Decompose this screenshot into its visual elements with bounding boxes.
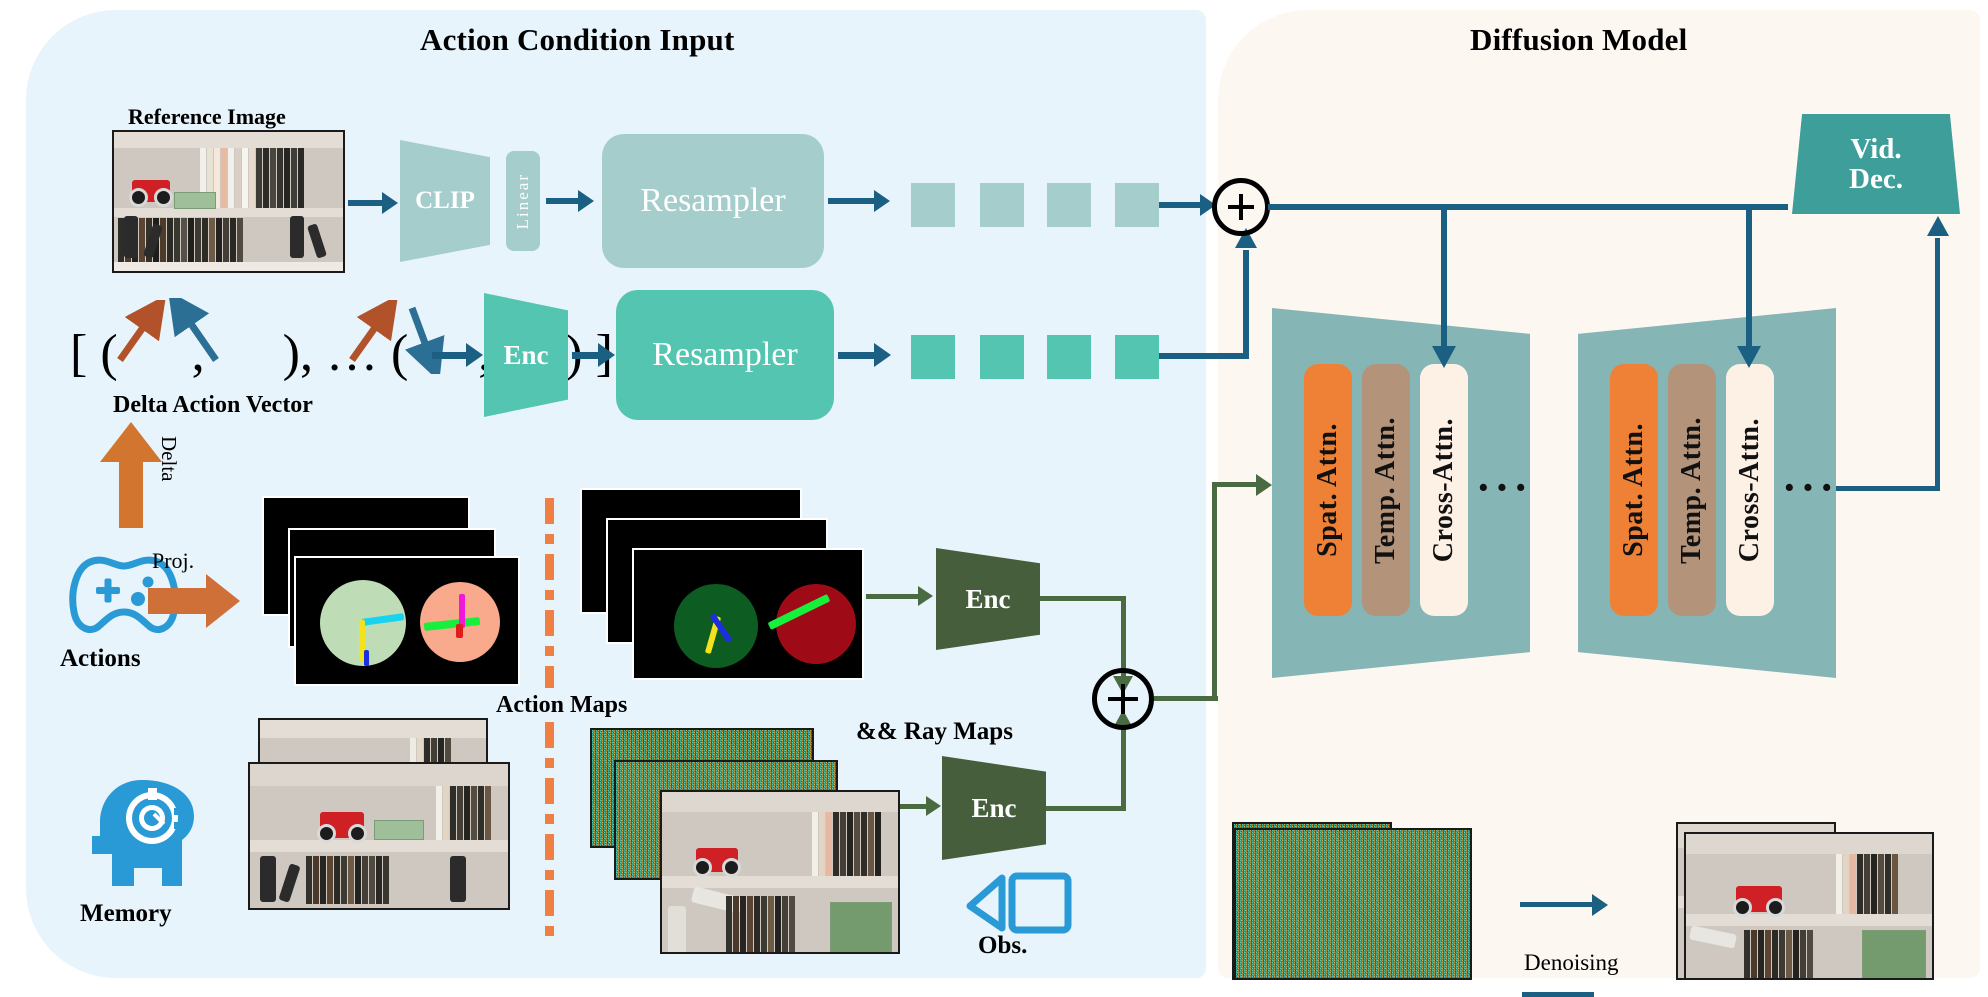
panel-title-diffusion-model: Diffusion Model (1470, 22, 1687, 58)
image-token-3 (1047, 183, 1091, 227)
unet1-ellipsis: ··· (1476, 462, 1532, 513)
ray-disc-right (776, 584, 856, 664)
memory-frame-front (248, 762, 510, 910)
image-token-2 (980, 183, 1024, 227)
arrow-obs-enc-elbow-h (1046, 806, 1126, 811)
arrow-sum-to-unet-v (1212, 482, 1217, 700)
ray-maps-label: && Ray Maps (856, 718, 1013, 746)
delta-action-vector-label: Delta Action Vector (113, 392, 313, 419)
linear-label: Linear (513, 173, 533, 229)
memory-label: Memory (80, 900, 172, 928)
denoising-label: Denoising (1524, 950, 1619, 976)
unet2-temporal-attn-label: Temp. Attn. (1676, 417, 1708, 564)
arrowhead-cond-to-unet1-cross-attn (1432, 346, 1456, 368)
arrowhead-cond-to-unet2-cross-attn (1737, 346, 1761, 368)
unet1-temporal-attn-label: Temp. Attn. (1370, 417, 1402, 564)
action-token-2 (980, 335, 1024, 379)
arrow-unet2-to-viddec-v (1935, 238, 1940, 490)
arrow-sum-to-unet-h1 (1154, 696, 1218, 701)
arrow-sum-to-unet-h2 (1212, 482, 1260, 487)
proj-arrow (148, 572, 240, 630)
unet-block-2: Spat. Attn. Temp. Attn. Cross-Attn. ··· (1578, 308, 1836, 678)
arrowhead-resampler-to-tokens-top (874, 190, 890, 212)
sum-node-latent (1092, 668, 1154, 730)
arrow-raymaps-to-enc (866, 594, 922, 599)
arrowhead-raymaps-to-enc (918, 586, 933, 606)
arrow-enc-to-resampler (572, 352, 600, 359)
cond-bus-drop-unet2 (1746, 204, 1752, 350)
video-decoder-block: Vid. Dec. (1792, 114, 1960, 214)
separator-dashed-upper (545, 498, 554, 688)
reference-image-label: Reference Image (128, 104, 286, 130)
cond-bus-horizontal (1268, 204, 1788, 210)
obs-label: Obs. (978, 932, 1027, 960)
actions-label: Actions (60, 645, 141, 673)
resampler-action-label: Resampler (652, 336, 797, 374)
arrowhead-unet2-to-viddec (1927, 216, 1949, 236)
resampler-image-label: Resampler (640, 182, 785, 220)
action-stick-right-magenta (459, 594, 465, 628)
arrow-ray-enc-elbow-h (1040, 596, 1126, 601)
arrow-action-tokens-elbow-v (1243, 250, 1249, 359)
ray-encoder-block: Enc (936, 548, 1040, 650)
resampler-action-block: Resampler (616, 290, 834, 420)
resampler-image-block: Resampler (602, 134, 824, 268)
arrow-unet2-to-viddec-h (1836, 486, 1940, 491)
arrow-resampler-to-tokens-bottom (838, 352, 876, 359)
separator-dashed-lower (545, 722, 554, 952)
proj-label: Proj. (152, 548, 194, 574)
linear-projection-block: Linear (506, 151, 540, 251)
diagram-canvas: Action Condition Input Diffusion Model R… (0, 0, 1988, 980)
arrow-linear-to-resampler (546, 198, 580, 204)
action-encoder-block: Enc (484, 293, 568, 417)
image-token-4 (1115, 183, 1159, 227)
arrow-denoising-shaft (1522, 992, 1594, 997)
unet2-ellipsis: ··· (1782, 462, 1838, 513)
arrow-obs-enc-elbow-v (1121, 728, 1126, 808)
unet1-pill-cross-attn[interactable]: Cross-Attn. (1420, 364, 1468, 616)
arrowhead-enc-to-resampler (598, 343, 615, 367)
unet1-pill-temporal-attn[interactable]: Temp. Attn. (1362, 364, 1410, 616)
unet2-pill-cross-attn[interactable]: Cross-Attn. (1726, 364, 1774, 616)
vid-dec-label-line1: Vid. (1850, 134, 1901, 164)
unet1-cross-attn-label: Cross-Attn. (1428, 418, 1460, 562)
vector-arrow-down-1 (398, 300, 456, 374)
arrow-refimage-to-clip (348, 200, 384, 206)
vector-arrow-down-right-1 (168, 298, 230, 370)
delta-arrow-label: Delta (156, 436, 181, 481)
action-map-frame-front (294, 556, 520, 686)
denoise-output-frame-front (1684, 832, 1934, 980)
cond-bus-drop-unet1 (1441, 204, 1447, 350)
obs-encoder-block: Enc (942, 756, 1046, 860)
arrow-tokens-to-sum-top (1159, 202, 1203, 208)
camera-icon (960, 872, 1076, 934)
vector-arrow-up-right-1 (110, 300, 170, 368)
image-token-1 (911, 183, 955, 227)
arrow-action-tokens-elbow-h (1159, 353, 1249, 359)
reference-image-thumbnail (112, 130, 345, 273)
unet2-pill-temporal-attn[interactable]: Temp. Attn. (1668, 364, 1716, 616)
unet2-pill-spatial-attn[interactable]: Spat. Attn. (1610, 364, 1658, 616)
arrow-resampler-to-tokens-top (828, 198, 876, 204)
obs-enc-label: Enc (971, 793, 1016, 824)
action-maps-label: Action Maps (496, 692, 627, 719)
action-token-3 (1047, 335, 1091, 379)
unet2-cross-attn-label: Cross-Attn. (1734, 418, 1766, 562)
arrowhead-refimage-to-clip (382, 192, 398, 214)
arrowhead-resampler-to-tokens-bottom (874, 343, 891, 367)
panel-title-action-condition-input: Action Condition Input (420, 22, 735, 58)
arrowhead-sum-to-unet (1256, 474, 1272, 496)
clip-label: CLIP (415, 187, 475, 215)
arrow-expr-to-enc (432, 352, 468, 359)
vid-dec-label-line2: Dec. (1849, 164, 1903, 194)
denoise-input-frame-front (1234, 828, 1472, 980)
action-stick-right-red (456, 624, 463, 638)
brain-head-icon (90, 778, 198, 890)
sum-node-conditions (1212, 178, 1270, 236)
ray-enc-label: Enc (965, 584, 1010, 615)
arrow-ray-enc-elbow-v (1121, 596, 1126, 678)
ray-map-frame-front (632, 548, 864, 680)
action-stick-left-blue (364, 650, 369, 666)
unet1-spatial-attn-label: Spat. Attn. (1312, 423, 1344, 557)
obs-frame-clean-front (660, 790, 900, 954)
unet1-pill-spatial-attn[interactable]: Spat. Attn. (1304, 364, 1352, 616)
vector-arrow-up-right-2 (342, 300, 402, 368)
clip-encoder-block: CLIP (400, 140, 490, 262)
unet2-spatial-attn-label: Spat. Attn. (1618, 423, 1650, 557)
action-token-4 (1115, 335, 1159, 379)
action-token-1 (911, 335, 955, 379)
action-enc-label: Enc (503, 340, 548, 371)
arrowhead-denoising (1592, 894, 1608, 916)
arrowhead-linear-to-resampler (578, 190, 594, 212)
arrow-denoising (1520, 902, 1596, 907)
unet-block-1: Spat. Attn. Temp. Attn. Cross-Attn. ··· (1272, 308, 1530, 678)
arrowhead-expr-to-enc (466, 343, 483, 367)
arrowhead-obs-to-enc (926, 796, 941, 816)
